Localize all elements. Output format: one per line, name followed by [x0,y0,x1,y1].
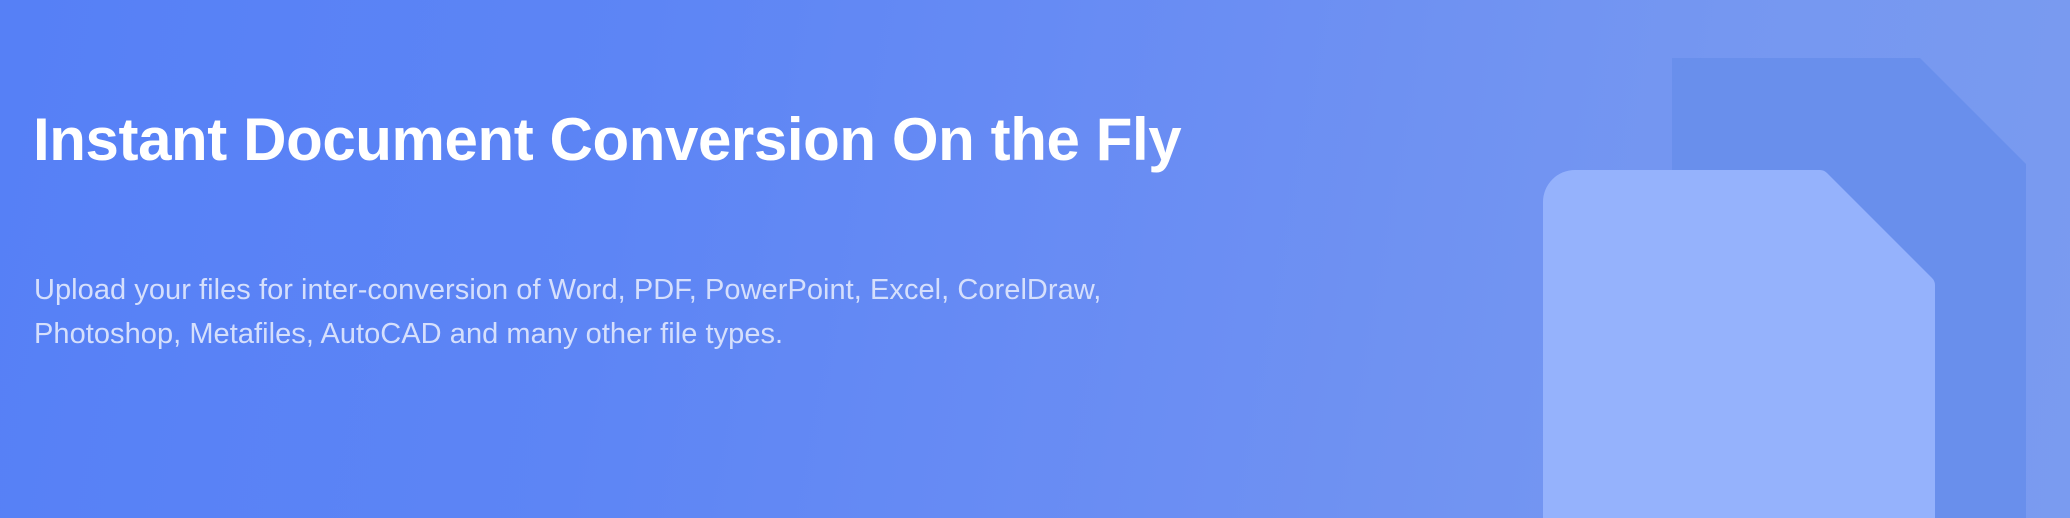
hero-subtitle-line-1: Upload your files for inter-conversion o… [34,268,1094,312]
document-shape-back-icon [1672,58,2026,518]
page-title: Instant Document Conversion On the Fly [33,104,1181,176]
hero-subtitle-line-2: Photoshop, Metafiles, AutoCAD and many o… [34,312,1094,356]
hero-banner: Instant Document Conversion On the Fly U… [0,0,2070,518]
hero-copy: Instant Document Conversion On the Fly U… [33,0,1233,518]
hero-subtitle: Upload your files for inter-conversion o… [34,268,1094,356]
document-shape-back-rounded-icon [1672,58,2026,518]
document-shape-front-icon [1543,170,1935,518]
document-illustration [1510,0,2070,518]
